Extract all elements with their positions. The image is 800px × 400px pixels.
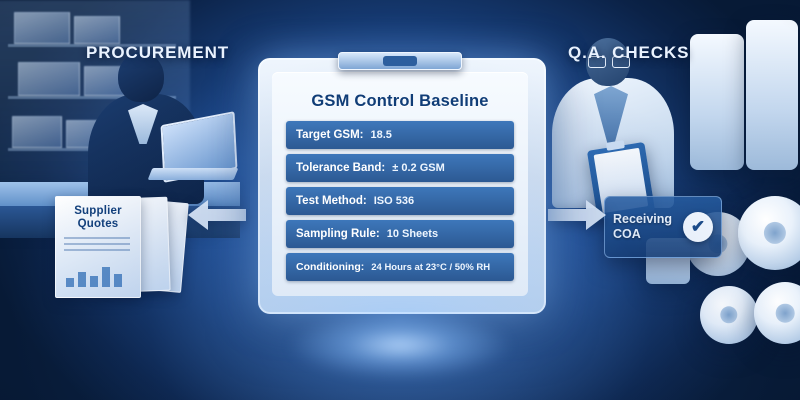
clipboard-clip [338, 52, 462, 70]
receiving-coa-label-line2: COA [613, 227, 641, 241]
supplier-quotes-label: Supplier Quotes [60, 205, 136, 231]
spec-row-label: Tolerance Band: [296, 162, 385, 174]
spec-row: Conditioning:24 Hours at 23°C / 50% RH [286, 253, 514, 281]
quote-mini-bar-chart [66, 261, 128, 287]
spec-row-list: Target GSM:18.5Tolerance Band:± 0.2 GSMT… [286, 121, 514, 281]
receiving-coa-label: Receiving COA [613, 212, 672, 242]
spec-row-label: Target GSM: [296, 129, 364, 141]
spec-row-value: ISO 536 [374, 195, 414, 207]
spec-row-label: Test Method: [296, 195, 367, 207]
quote-text-lines [64, 237, 130, 255]
paper-roll-end [754, 282, 800, 344]
receiving-coa-label-line1: Receiving [613, 212, 672, 226]
quote-mini-bar [114, 274, 122, 287]
supplier-quotes-label-line1: Supplier [74, 205, 122, 217]
spec-row-label: Conditioning: [296, 261, 364, 273]
quote-mini-bar [66, 278, 74, 287]
check-circle-icon: ✔ [683, 212, 713, 242]
spec-row-value: 18.5 [371, 129, 392, 141]
supplier-quotes-card: Supplier Quotes [55, 196, 187, 302]
panel-title: GSM Control Baseline [286, 92, 514, 111]
qa-inspector-figure [554, 38, 674, 208]
gsm-baseline-panel: GSM Control Baseline Target GSM:18.5Tole… [272, 72, 528, 296]
quote-mini-bar [78, 272, 86, 287]
paper-roll-standing [746, 20, 798, 170]
spec-row: Test Method:ISO 536 [286, 187, 514, 215]
storage-box [18, 62, 80, 96]
arrow-left-icon [188, 198, 246, 232]
quote-sheet-front: Supplier Quotes [55, 196, 141, 298]
storage-box [14, 12, 70, 44]
receiving-coa-card: Receiving COA ✔ [604, 196, 722, 258]
spec-row: Sampling Rule:10 Sheets [286, 220, 514, 248]
laptop-keyboard-base [148, 168, 239, 180]
paper-roll-end [738, 196, 800, 270]
spec-row-value: ± 0.2 GSM [392, 162, 445, 174]
storage-box [12, 116, 62, 148]
spec-row-label: Sampling Rule: [296, 228, 380, 240]
spec-row-value: 24 Hours at 23°C / 50% RH [371, 262, 490, 273]
infographic-scene: Supplier Quotes Receiv [0, 0, 800, 400]
quote-mini-bar [102, 267, 110, 287]
spec-row-value: 10 Sheets [387, 228, 438, 240]
arrow-right-icon [548, 198, 606, 232]
section-title-qa-checks: Q.A. CHECKS [568, 43, 689, 63]
spec-row: Target GSM:18.5 [286, 121, 514, 149]
paper-roll-end [700, 286, 758, 344]
section-title-procurement: PROCUREMENT [86, 43, 229, 63]
paper-roll-standing [690, 34, 744, 170]
spec-row: Tolerance Band:± 0.2 GSM [286, 154, 514, 182]
supplier-quotes-label-line2: Quotes [78, 218, 119, 230]
quote-mini-bar [90, 276, 98, 287]
storage-box [74, 16, 120, 44]
